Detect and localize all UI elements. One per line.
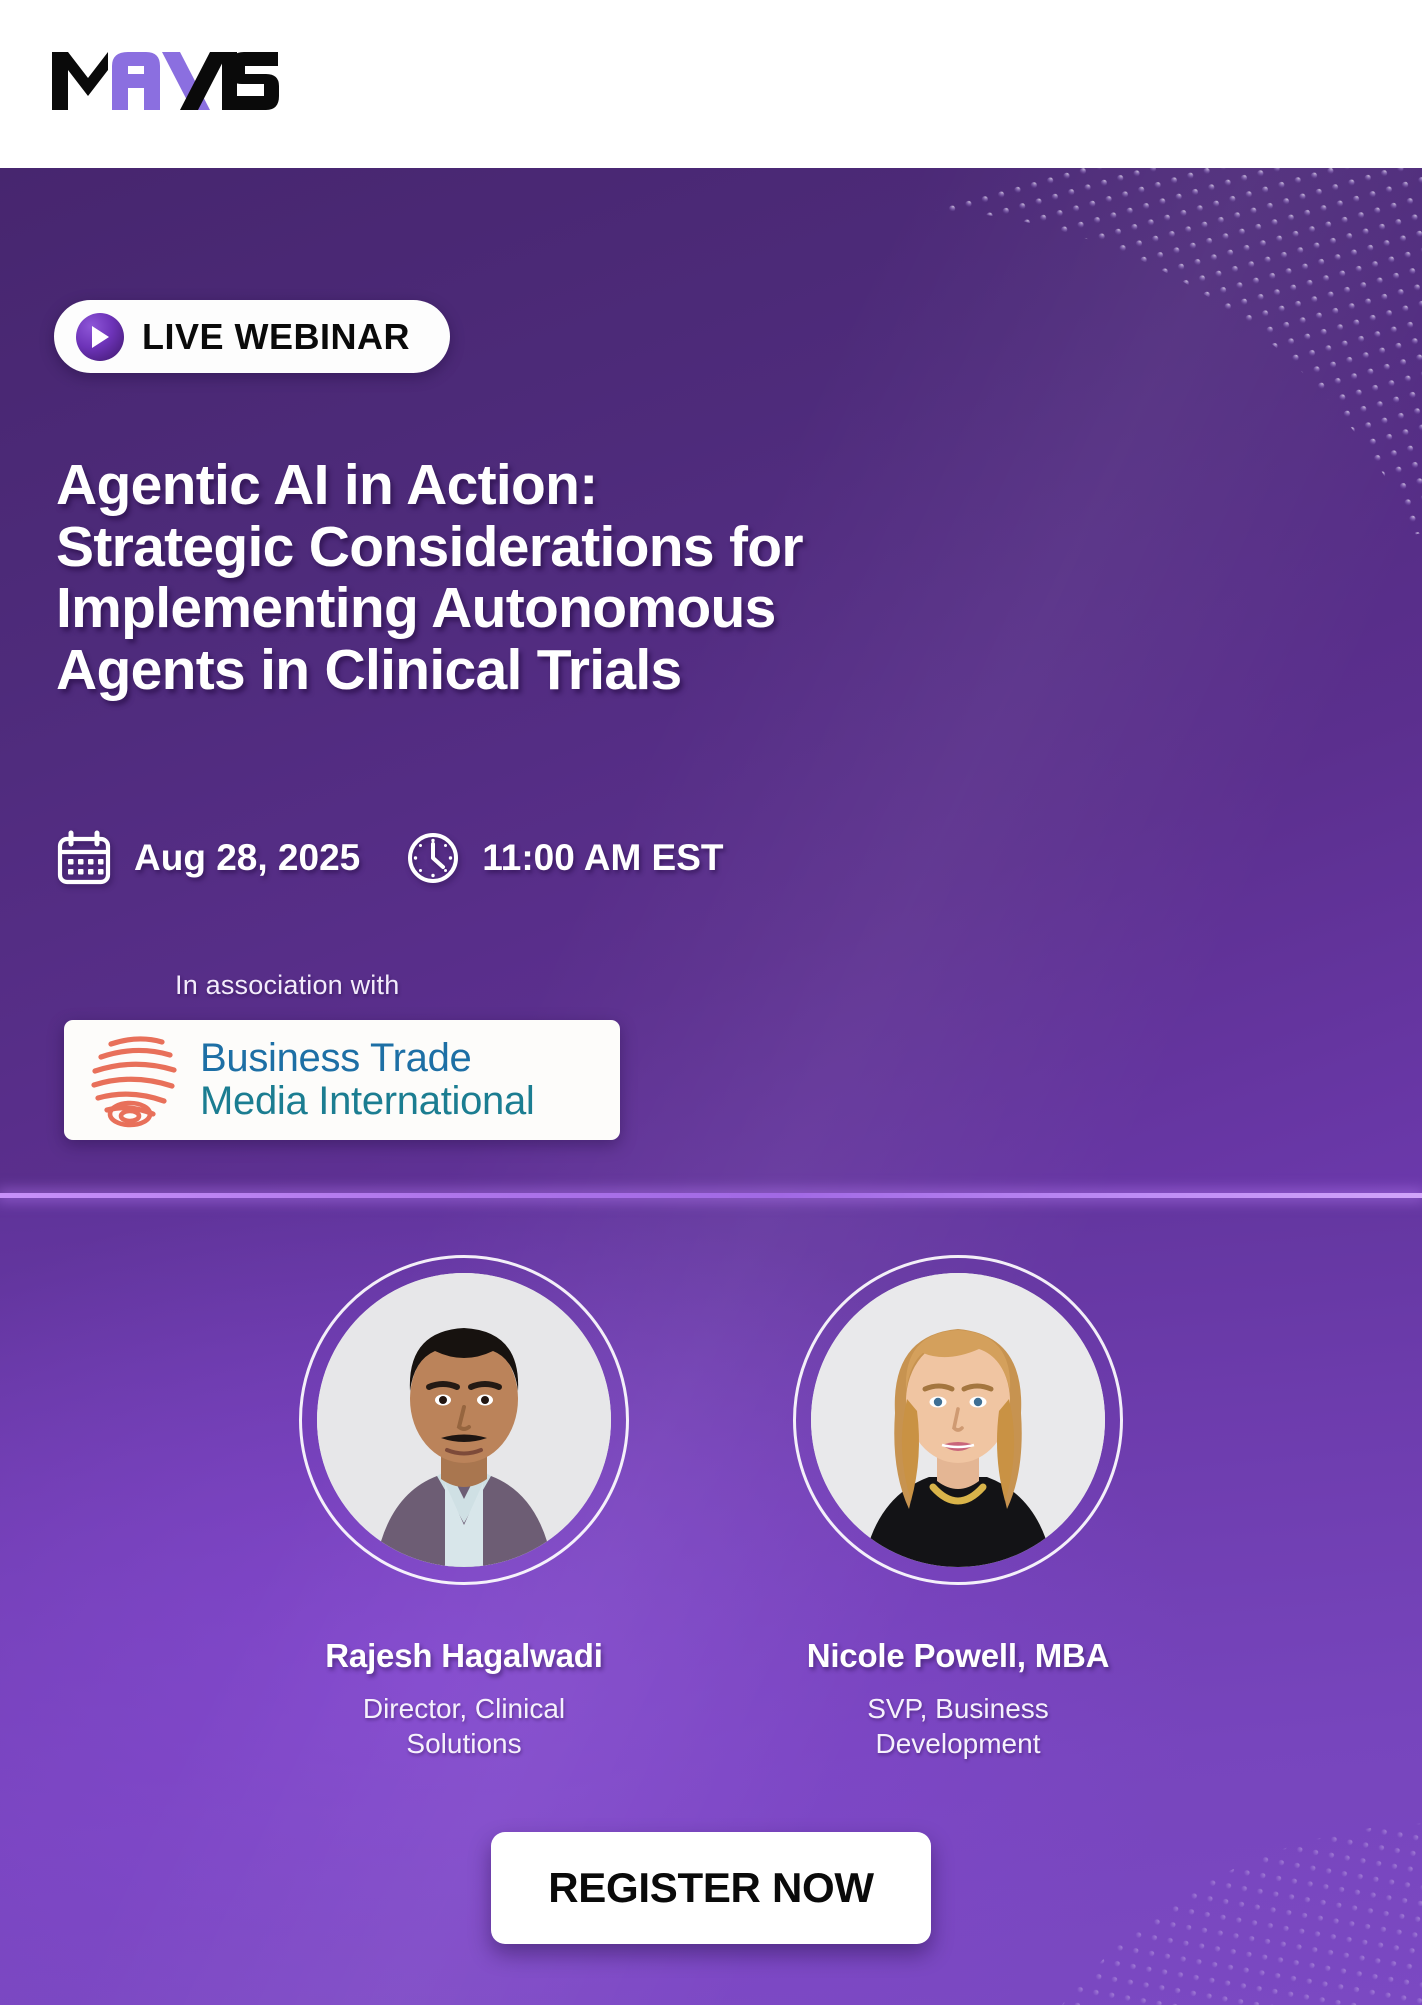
webinar-poster: LIVE WEBINAR Agentic AI in Action: Strat… bbox=[0, 0, 1422, 2005]
partner-line-1: Business Trade bbox=[200, 1037, 535, 1080]
speaker-role: Director, Clinical Solutions bbox=[299, 1691, 629, 1761]
webinar-title: Agentic AI in Action: Strategic Consider… bbox=[56, 455, 936, 701]
speaker-name: Nicole Powell, MBA bbox=[793, 1637, 1123, 1675]
avatar bbox=[299, 1255, 629, 1585]
globe-icon bbox=[80, 1028, 184, 1132]
event-date-text: Aug 28, 2025 bbox=[134, 837, 360, 879]
live-webinar-label: LIVE WEBINAR bbox=[142, 316, 410, 358]
speaker-role: SVP, Business Development bbox=[793, 1691, 1123, 1761]
clock-icon bbox=[406, 831, 460, 885]
title-line-1: Agentic AI in Action: bbox=[56, 455, 936, 517]
speaker-photo bbox=[811, 1273, 1105, 1567]
title-line-4: Agents in Clinical Trials bbox=[56, 640, 936, 702]
speaker-role-line-2: Development bbox=[793, 1726, 1123, 1761]
register-now-label: REGISTER NOW bbox=[548, 1864, 873, 1912]
speaker-card: Nicole Powell, MBA SVP, Business Develop… bbox=[793, 1255, 1123, 1761]
partner-line-2: Media International bbox=[200, 1080, 535, 1123]
live-webinar-badge[interactable]: LIVE WEBINAR bbox=[54, 300, 450, 373]
event-meta: Aug 28, 2025 11:00 AM EST bbox=[56, 830, 724, 886]
title-line-2: Strategic Considerations for bbox=[56, 517, 936, 579]
event-time-text: 11:00 AM EST bbox=[482, 837, 723, 879]
register-now-button[interactable]: REGISTER NOW bbox=[491, 1832, 931, 1944]
speaker-name: Rajesh Hagalwadi bbox=[299, 1637, 629, 1675]
event-date: Aug 28, 2025 bbox=[56, 830, 360, 886]
speaker-role-line-2: Solutions bbox=[299, 1726, 629, 1761]
play-icon bbox=[76, 313, 124, 361]
partner-logo-card: Business Trade Media International bbox=[64, 1020, 620, 1140]
speaker-role-line-1: Director, Clinical bbox=[299, 1691, 629, 1726]
maxis-logo bbox=[50, 44, 280, 116]
speaker-role-line-1: SVP, Business bbox=[793, 1691, 1123, 1726]
event-time: 11:00 AM EST bbox=[406, 831, 723, 885]
header-bar bbox=[0, 0, 1422, 168]
partner-name: Business Trade Media International bbox=[200, 1037, 535, 1123]
speaker-photo bbox=[317, 1273, 611, 1567]
speakers-row: Rajesh Hagalwadi Director, Clinical Solu… bbox=[0, 1255, 1422, 1761]
association-label: In association with bbox=[175, 970, 399, 1001]
avatar bbox=[793, 1255, 1123, 1585]
speaker-card: Rajesh Hagalwadi Director, Clinical Solu… bbox=[299, 1255, 629, 1761]
title-line-3: Implementing Autonomous bbox=[56, 578, 936, 640]
calendar-icon bbox=[56, 830, 112, 886]
